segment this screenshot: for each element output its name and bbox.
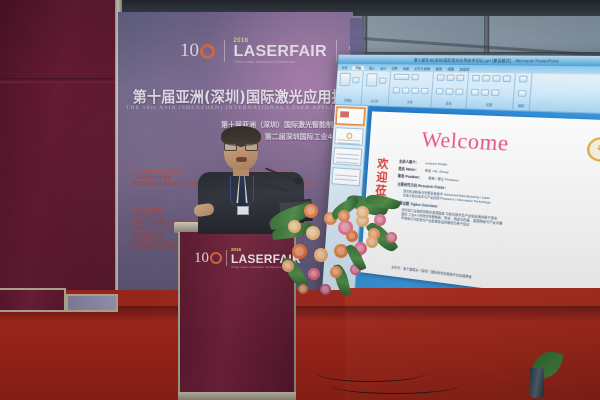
booth-panel-left xyxy=(0,288,66,312)
indent-button[interactable] xyxy=(456,75,464,82)
organizer-block-1: LASERFAIR主办单位 广东省激光行业协会 深圳市仪器仪表及自动化行业协会 xyxy=(132,170,198,188)
anniversary-number: 10 xyxy=(180,42,199,60)
replace-icon[interactable] xyxy=(518,89,527,96)
tab-file[interactable]: 文件 xyxy=(341,65,347,69)
shape-fill-button[interactable] xyxy=(471,88,479,95)
floor-cable-2 xyxy=(330,376,460,394)
backdrop-title-cn: 第十届亚洲(深圳)国际激光应用技术论坛 xyxy=(133,86,342,107)
align-right-button[interactable] xyxy=(455,88,463,95)
align-left-button[interactable] xyxy=(436,88,444,95)
slide-thumbnail[interactable] xyxy=(336,107,366,125)
conference-photo-scene: 10 2016 LASERFAIR China Laser Innovation… xyxy=(0,0,600,400)
ribbon-group-label: 幻灯片 xyxy=(365,99,385,104)
field-key: 姓名 Name： xyxy=(398,166,418,173)
shape-outline-button[interactable] xyxy=(481,89,489,96)
backdrop-title-en: THE 10th ASIA (SHENZHEN) INTERNATIONAL L… xyxy=(126,105,348,111)
flower-bloom xyxy=(288,220,301,233)
speaker-badge xyxy=(237,206,249,215)
seal-icon: ⚘ xyxy=(586,137,600,163)
ribbon-group-editing[interactable]: 编辑 xyxy=(513,73,532,110)
tab-animations[interactable]: 动画 xyxy=(403,66,410,70)
booth-panel-mid xyxy=(66,294,118,312)
podium-logo-divider xyxy=(226,250,227,266)
shape-line-icon[interactable] xyxy=(503,75,512,82)
powerpoint-title: 第十届亚洲(深圳)国际激光应用技术论坛.ppt [兼容模式] - Microso… xyxy=(414,57,559,64)
flower-bloom xyxy=(386,232,397,243)
align-center-button[interactable] xyxy=(445,88,453,95)
cut-button[interactable] xyxy=(352,77,359,83)
flower-bloom xyxy=(346,230,358,242)
flower-bloom xyxy=(356,206,369,219)
field-key: 职务 Position： xyxy=(398,173,422,180)
slide-title: Welcome xyxy=(421,128,510,157)
tab-insert[interactable]: 插入 xyxy=(369,66,375,70)
glasses-bridge xyxy=(239,146,243,147)
thumbnail-seal-icon xyxy=(346,133,352,139)
speaker-mouth xyxy=(236,157,247,162)
ribbon-group-label: 绘图 xyxy=(470,102,509,108)
flower-bloom xyxy=(282,260,294,272)
tab-transitions[interactable]: 切换 xyxy=(391,66,397,70)
anniversary-ring-icon xyxy=(200,44,215,59)
left-booth-wall xyxy=(0,0,122,330)
podium-anniversary-number: 10 xyxy=(194,251,209,265)
tab-slideshow[interactable]: 幻灯片放映 xyxy=(414,66,430,70)
shape-rect-icon[interactable] xyxy=(472,75,480,82)
font-color-button[interactable] xyxy=(421,87,429,94)
logo-divider xyxy=(224,40,225,62)
logo-tagline: China Laser Innovation Conference xyxy=(234,61,327,64)
paste-button[interactable] xyxy=(339,73,351,86)
flower-bloom xyxy=(366,236,378,248)
field-key: 主讲人简介： xyxy=(399,158,419,165)
find-icon[interactable] xyxy=(519,76,528,83)
field-value: 教授 / 博士 Professor xyxy=(428,176,459,182)
flower-bloom xyxy=(308,268,320,280)
logo-brand: LASERFAIR xyxy=(234,44,327,60)
flower-bloom xyxy=(298,284,308,294)
tab-home[interactable]: 开始 xyxy=(352,65,364,69)
tab-design[interactable]: 设计 xyxy=(380,66,386,70)
tab-view[interactable]: 视图 xyxy=(447,66,454,70)
flower-bloom xyxy=(306,226,320,240)
backdrop-logo-lockup: 10 2016 LASERFAIR China Laser Innovation… xyxy=(180,38,353,64)
ribbon-group-label: 剪贴板 xyxy=(338,98,358,103)
field-value: 张某 / Mr. Zhang xyxy=(425,169,449,175)
bold-button[interactable] xyxy=(393,87,401,93)
flower-bloom xyxy=(374,214,386,226)
layout-button[interactable] xyxy=(379,77,387,83)
podium-base xyxy=(178,392,296,400)
floral-arrangement-secondary xyxy=(330,196,420,306)
thumbnail-image xyxy=(340,111,349,117)
podium-anniversary-ring-icon xyxy=(210,252,222,264)
flower-bloom xyxy=(338,210,350,222)
glasses-lens-left xyxy=(224,143,237,151)
slide-thumbnail[interactable] xyxy=(331,167,360,186)
glasses-lens-right xyxy=(245,143,258,151)
tab-review[interactable]: 审阅 xyxy=(435,66,442,70)
ribbon-group-font[interactable]: 字体 xyxy=(389,72,434,108)
tab-addins[interactable]: 加载项 xyxy=(459,67,469,71)
numbering-button[interactable] xyxy=(446,74,454,81)
slide-thumbnail[interactable] xyxy=(333,147,362,166)
new-slide-button[interactable] xyxy=(366,73,378,87)
ribbon-group-clipboard[interactable]: 剪贴板 xyxy=(335,71,364,105)
underline-button[interactable] xyxy=(411,87,419,93)
ribbon-group-label: 段落 xyxy=(435,101,463,106)
ribbon-group-paragraph[interactable]: 段落 xyxy=(431,72,469,108)
anniversary-10-logo: 10 xyxy=(180,42,215,60)
laserfair-wordmark: 2016 LASERFAIR China Laser Innovation Co… xyxy=(234,38,327,64)
bullets-button[interactable] xyxy=(437,74,445,81)
ribbon-group-label: 字体 xyxy=(392,100,428,105)
flower-bloom xyxy=(304,204,318,218)
organizer-line: 深圳市仪器仪表及自动化行业协会 xyxy=(132,182,198,188)
slide-body: 主讲人简介： Lecturer Profile 姓名 Name： 张某 / Mr… xyxy=(391,158,600,296)
floor-vase xyxy=(530,368,544,398)
ribbon-group-drawing[interactable]: 绘图 xyxy=(466,73,516,110)
flower-bloom xyxy=(292,244,307,259)
shape-effects-button[interactable] xyxy=(491,89,500,96)
font-size-combo[interactable] xyxy=(411,74,419,80)
logo-divider-2 xyxy=(336,40,337,62)
font-name-combo[interactable] xyxy=(394,74,410,81)
speaker-lanyard xyxy=(230,176,254,206)
ribbon-group-label: 编辑 xyxy=(517,103,526,108)
slide-thumbnail[interactable] xyxy=(334,127,363,146)
ribbon-group-slides[interactable]: 幻灯片 xyxy=(361,71,391,106)
italic-button[interactable] xyxy=(402,87,410,93)
flower-bloom xyxy=(314,248,328,262)
field-value: Lecturer Profile xyxy=(425,161,447,167)
speaker-glasses xyxy=(224,142,258,151)
shape-oval-icon[interactable] xyxy=(482,75,490,82)
podium-anniversary-logo: 10 xyxy=(194,251,222,265)
shape-arrow-icon[interactable] xyxy=(492,75,501,82)
